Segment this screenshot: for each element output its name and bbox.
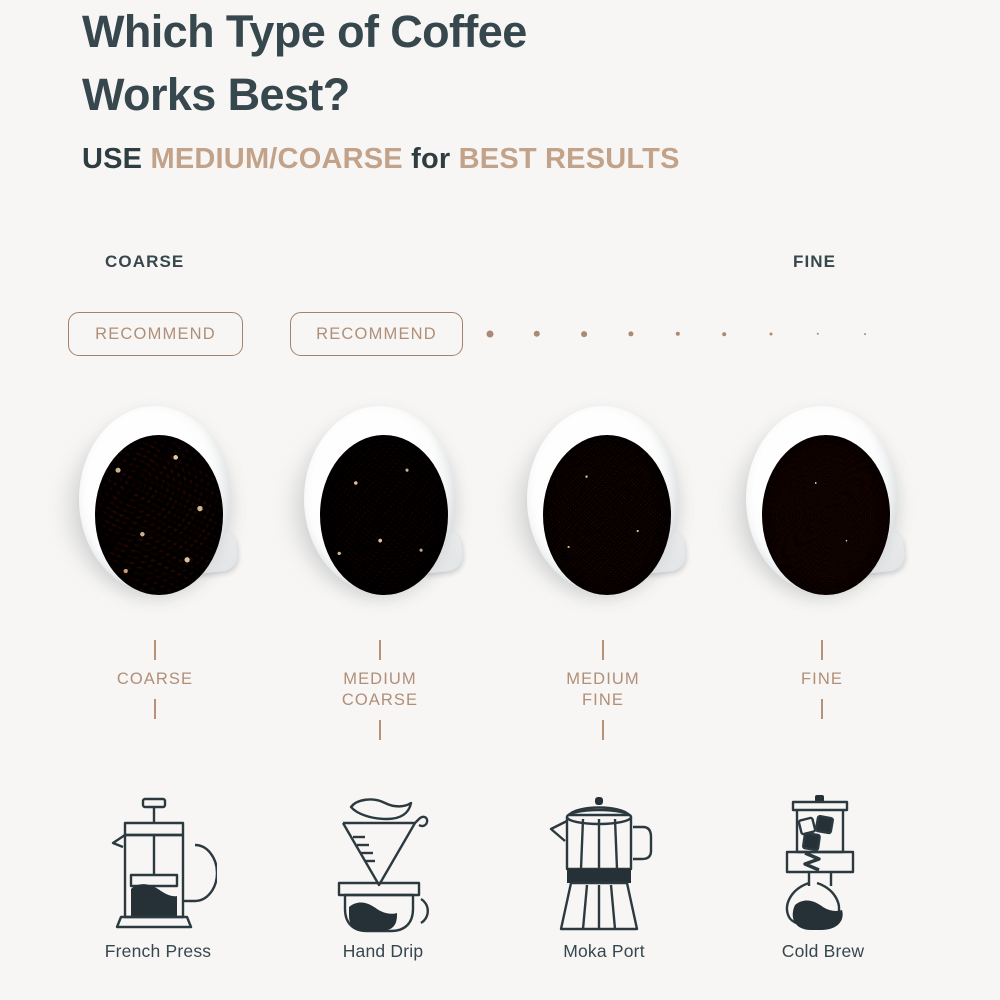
header-block: Which Type of Coffee Works Best? USE MED… [82,0,942,176]
grind-scale-dot-8[interactable] [817,333,819,335]
brew-method-label: Hand Drip [273,941,493,962]
coffee-cups-row [0,380,1000,610]
brew-method-cold-brew[interactable]: Cold Brew [713,790,933,962]
cold-brew-icon [713,790,933,935]
subtitle-word-grind: MEDIUM/COARSE [151,143,403,175]
cup-body [304,406,456,592]
brew-method-moka-pot[interactable]: Moka Port [494,790,714,962]
grind-label-line-2: FINE [503,690,703,711]
grind-label-text: COARSE [55,669,255,690]
grind-label-column-2: MEDIUMFINE [503,640,703,740]
grind-scale-dot-4[interactable] [628,331,633,336]
scale-label-fine: FINE [793,252,836,272]
page-title-line-1: Which Type of Coffee [82,0,942,63]
page-subtitle: USE MEDIUM/COARSE for BEST RESULTS [82,143,942,176]
coffee-cup-medium-coarse [300,390,460,600]
brew-method-label: Moka Port [494,941,714,962]
scale-label-coarse: COARSE [105,252,184,272]
subtitle-word-for: for [411,143,450,175]
grind-labels-row: COARSEMEDIUMCOARSEMEDIUMFINEFINE [0,640,1000,750]
grind-tick-top [821,640,823,660]
grind-scale-dot-2[interactable] [534,331,540,337]
grind-scale-dots [0,312,1000,356]
grind-scale-dot-3[interactable] [581,331,587,337]
brew-method-french-press[interactable]: French Press [48,790,268,962]
grind-scale-dot-6[interactable] [722,332,726,336]
grind-tick-bottom [602,720,604,740]
brew-method-label: French Press [48,941,268,962]
page-title-line-2: Works Best? [82,63,942,126]
grind-label-text: FINE [722,669,922,690]
grind-tick-bottom [154,699,156,719]
moka-pot-icon [494,790,714,935]
cup-body [746,406,898,592]
coffee-cup-coarse [75,390,235,600]
cup-body [79,406,231,592]
page-title: Which Type of Coffee Works Best? [82,0,942,126]
subtitle-word-use: USE [82,143,142,175]
grind-label-column-0: COARSE [55,640,255,719]
coffee-grounds-fine [762,435,890,595]
french-press-icon [48,790,268,935]
cup-body [527,406,679,592]
grind-tick-top [379,640,381,660]
grind-tick-top [602,640,604,660]
grind-scale-dot-1[interactable] [487,331,494,338]
grind-label-line-1: MEDIUM [280,669,480,690]
brew-method-hand-drip[interactable]: Hand Drip [273,790,493,962]
grind-tick-bottom [821,699,823,719]
brew-methods-row: French PressHand DripMoka PortCold Brew [0,790,1000,1000]
grind-label-line-1: COARSE [55,669,255,690]
coffee-grounds-coarse [95,435,223,595]
grind-label-line-1: MEDIUM [503,669,703,690]
grind-label-column-3: FINE [722,640,922,719]
grind-scale-dot-5[interactable] [676,332,680,336]
grind-scale-dot-9[interactable] [864,333,866,335]
coffee-cup-fine [742,390,902,600]
grind-label-text: MEDIUMFINE [503,669,703,711]
grind-tick-top [154,640,156,660]
brew-method-label: Cold Brew [713,941,933,962]
coffee-grounds-medium-fine [543,435,671,595]
grind-label-text: MEDIUMCOARSE [280,669,480,711]
grind-scale-dot-7[interactable] [770,333,773,336]
coffee-cup-medium-fine [523,390,683,600]
hand-drip-icon [273,790,493,935]
grind-label-column-1: MEDIUMCOARSE [280,640,480,740]
grind-tick-bottom [379,720,381,740]
subtitle-word-results: BEST RESULTS [459,143,680,175]
grind-scale-endpoints: COARSE FINE [0,252,1000,282]
coffee-grounds-medium-coarse [320,435,448,595]
grind-label-line-1: FINE [722,669,922,690]
grind-label-line-2: COARSE [280,690,480,711]
